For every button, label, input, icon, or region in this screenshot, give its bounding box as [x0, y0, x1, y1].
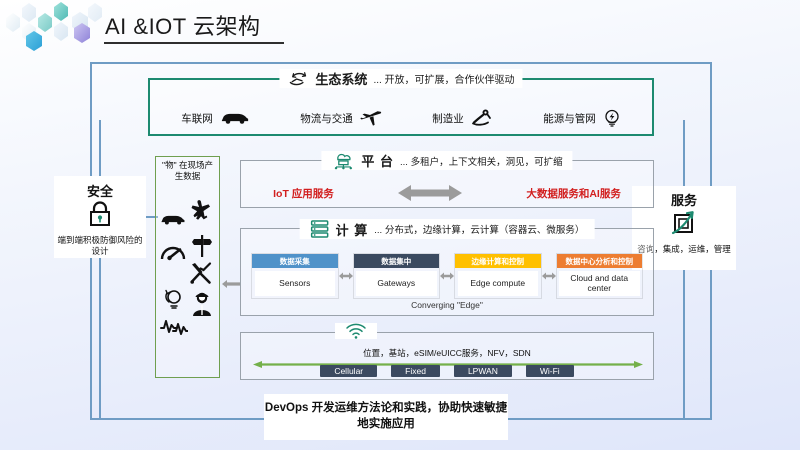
- double-arrow-horizontal-icon: [542, 271, 556, 281]
- platform-header: 平 台 ... 多租户，上下文相关，洞见，可扩缩: [321, 151, 572, 170]
- double-arrow-horizontal-icon: [339, 271, 353, 281]
- page-title: AI &IOT 云架构: [105, 9, 260, 41]
- wifi-signal-icon: [345, 323, 367, 339]
- car-icon: [160, 213, 186, 226]
- compute-title: 计 算: [336, 220, 369, 239]
- lightbulb-arrows-icon: [163, 287, 185, 311]
- meter-gauge-icon: [160, 243, 186, 263]
- platform-row: IoT 应用服务 大数据服务和AI服务: [241, 181, 653, 205]
- compute-box-caption: 边缘计算和控制: [455, 254, 541, 268]
- compute-box-body: Cloud and data center: [559, 271, 640, 296]
- compute-section: 计 算 ... 分布式，边缘计算，云计算（容器云、微服务） 数据采集 Senso…: [240, 228, 654, 316]
- compute-box-caption: 数据集中: [354, 254, 440, 268]
- connectivity-header: [335, 323, 377, 339]
- compute-box-sensors[interactable]: 数据采集 Sensors: [251, 253, 339, 299]
- connectivity-chip-fixed[interactable]: Fixed: [391, 365, 440, 377]
- ecosystem-item-vehicle[interactable]: 车联网: [181, 111, 250, 126]
- title-underline: [104, 42, 284, 44]
- security-vertical-line: [99, 120, 101, 176]
- ecosystem-title: 生态系统: [315, 69, 367, 88]
- compute-subtitle: ... 分布式，边缘计算，云计算（容器云、微服务）: [374, 222, 584, 236]
- car-icon: [220, 111, 250, 125]
- compute-box-datacenter[interactable]: 数据中心分析和控制 Cloud and data center: [556, 253, 644, 299]
- tools-wrench-screwdriver-icon: [189, 261, 213, 285]
- compute-arrow-gap: [440, 253, 454, 299]
- person-worker-icon: [191, 291, 213, 317]
- compute-header: 计 算 ... 分布式，边缘计算，云计算（容器云、微服务）: [300, 219, 595, 239]
- platform-section: 平 台 ... 多租户，上下文相关，洞见，可扩缩 IoT 应用服务 大数据服务和…: [240, 160, 654, 208]
- services-vertical-line: [683, 120, 685, 186]
- slide-header: AI &IOT 云架构: [0, 0, 800, 56]
- security-vertical-line-lower: [99, 258, 101, 420]
- platform-left-label: IoT 应用服务: [273, 186, 334, 201]
- connectivity-chip-lpwan[interactable]: LPWAN: [454, 365, 512, 377]
- compute-box-body: Edge compute: [458, 271, 539, 296]
- ecosystem-item-label: 物流与交通: [300, 111, 353, 126]
- padlock-icon: [88, 201, 112, 227]
- things-title: "物" 在现场产生数据: [158, 160, 217, 181]
- services-vertical-line-lower: [683, 270, 685, 420]
- double-arrow-horizontal-icon: [398, 184, 462, 202]
- ecosystem-item-label: 制造业: [432, 111, 464, 126]
- security-title: 安全: [54, 181, 146, 200]
- compute-arrow-gap: [542, 253, 556, 299]
- robot-arm-icon: [471, 109, 493, 127]
- compute-box-body: Sensors: [255, 271, 336, 296]
- ecosystem-subtitle: ... 开放，可扩展，合作伙伴驱动: [373, 71, 514, 86]
- heartbeat-wave-icon: [160, 317, 188, 335]
- things-to-compute-arrow: [222, 279, 240, 289]
- compute-box-edge[interactable]: 边缘计算和控制 Edge compute: [454, 253, 542, 299]
- compute-box-gateways[interactable]: 数据集中 Gateways: [353, 253, 441, 299]
- things-icon-grid: [158, 195, 217, 373]
- ecosystem-item-energy[interactable]: 能源与管网: [543, 109, 621, 128]
- handshake-recycle-icon: [287, 71, 309, 87]
- ecosystem-header: 生态系统 ... 开放，可扩展，合作伙伴驱动: [279, 69, 522, 88]
- cloud-platform-icon: [331, 151, 355, 170]
- ecosystem-item-label: 车联网: [181, 111, 213, 126]
- connectivity-chips: Cellular Fixed LPWAN Wi-Fi: [241, 364, 653, 378]
- ecosystem-section: 生态系统 ... 开放，可扩展，合作伙伴驱动 车联网 物流与交通 制造业: [148, 78, 654, 136]
- connectivity-chip-wifi[interactable]: Wi-Fi: [526, 365, 574, 377]
- growth-arrow-frame-icon: [670, 210, 698, 236]
- compute-box-caption: 数据采集: [252, 254, 338, 268]
- compute-box-body: Gateways: [356, 271, 437, 296]
- ecosystem-item-manufacturing[interactable]: 制造业: [432, 109, 493, 127]
- devops-panel: DevOps 开发运维方法论和实践，协助快速敏捷地实施应用: [264, 394, 508, 440]
- ecosystem-item-label: 能源与管网: [543, 111, 596, 126]
- ecosystem-items: 车联网 物流与交通 制造业 能源与管网: [156, 102, 646, 134]
- airplane-icon: [360, 109, 382, 127]
- connectivity-chip-cellular[interactable]: Cellular: [320, 365, 377, 377]
- devops-text: DevOps 开发运维方法论和实践，协助快速敏捷地实施应用: [264, 401, 508, 432]
- double-arrow-horizontal-icon: [440, 271, 454, 281]
- signpost-icon: [191, 233, 213, 258]
- security-panel: 安全 端到端积极防御风险的设计: [54, 176, 146, 258]
- security-description: 端到端积极防御风险的设计: [54, 235, 146, 258]
- things-column: "物" 在现场产生数据: [155, 156, 220, 378]
- compute-arrow-gap: [339, 253, 353, 299]
- platform-right-label: 大数据服务和AI服务: [526, 186, 621, 201]
- lightbulb-bolt-icon: [603, 109, 621, 128]
- platform-title: 平 台: [361, 151, 394, 170]
- compute-box-caption: 数据中心分析和控制: [557, 254, 643, 268]
- connectivity-subtitle: 位置，基站，eSIM/eUICC服务，NFV，SDN: [241, 347, 653, 359]
- platform-subtitle: ... 多租户，上下文相关，洞见，可扩缩: [400, 154, 563, 168]
- compute-footer: Converging "Edge": [241, 300, 653, 310]
- connectivity-section: 位置，基站，eSIM/eUICC服务，NFV，SDN Cellular Fixe…: [240, 332, 654, 380]
- airplane-icon: [188, 199, 213, 221]
- server-rack-icon: [310, 219, 330, 239]
- ecosystem-item-logistics[interactable]: 物流与交通: [300, 109, 382, 127]
- compute-boxes: 数据采集 Sensors 数据集中 Gateways 边缘计算和控制 Edge …: [251, 253, 643, 299]
